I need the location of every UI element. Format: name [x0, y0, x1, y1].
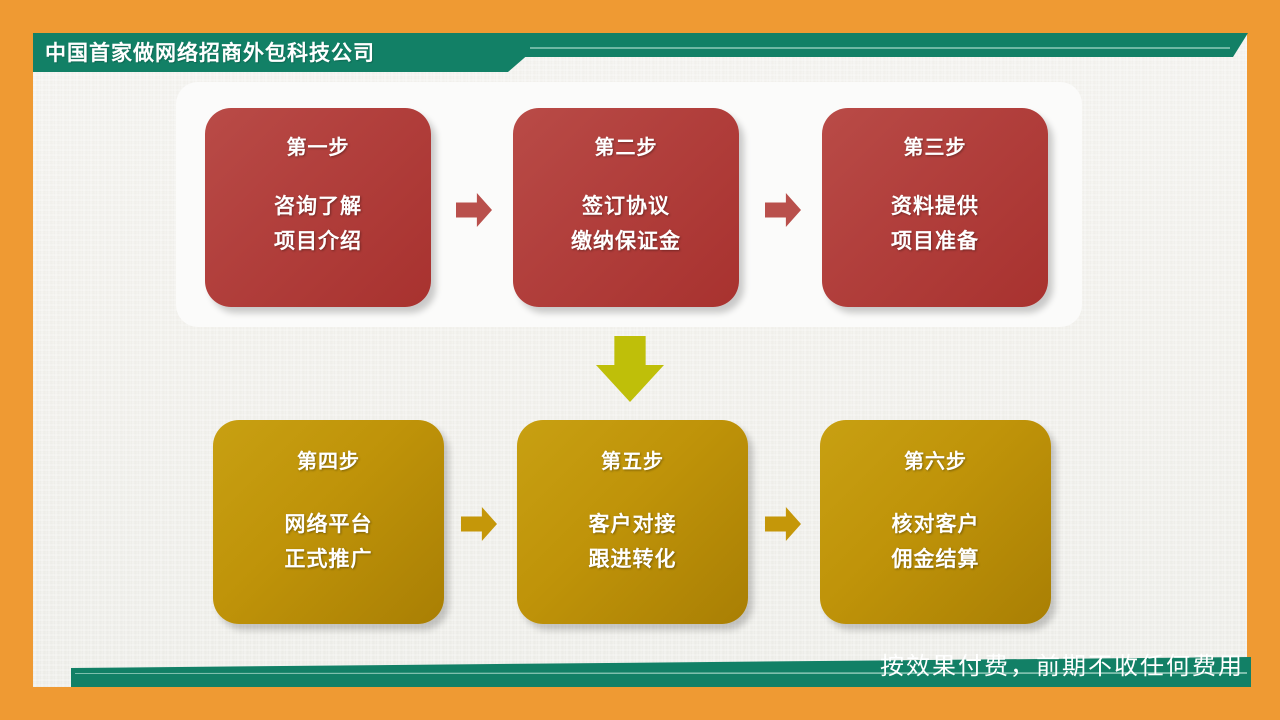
page-title: 中国首家做网络招商外包科技公司	[45, 37, 375, 71]
step-card-5-line2: 跟进转化	[589, 549, 677, 570]
step-card-4-title: 第四步	[297, 452, 360, 472]
step-card-6[interactable]: 第六步 核对客户 佣金结算	[820, 420, 1051, 624]
step-card-3-body: 资料提供 项目准备	[891, 196, 979, 252]
step-card-1-line1: 咨询了解	[274, 196, 362, 217]
step-card-2-title: 第二步	[595, 138, 658, 158]
step-card-1-body: 咨询了解 项目介绍	[274, 196, 362, 252]
step-card-6-title: 第六步	[904, 452, 967, 472]
step-card-3-line1: 资料提供	[891, 196, 979, 217]
step-card-2-line1: 签订协议	[582, 196, 670, 217]
step-card-2-line2: 缴纳保证金	[571, 231, 681, 252]
step-card-2[interactable]: 第二步 签订协议 缴纳保证金	[513, 108, 739, 307]
step-card-4-line2: 正式推广	[285, 549, 373, 570]
step-card-1-title: 第一步	[287, 138, 350, 158]
step-card-4-body: 网络平台 正式推广	[285, 514, 373, 570]
footer-tagline: 按效果付费，前期不收任何费用	[880, 647, 1244, 687]
step-card-5-title: 第五步	[601, 452, 664, 472]
step-card-5[interactable]: 第五步 客户对接 跟进转化	[517, 420, 748, 624]
step-card-5-body: 客户对接 跟进转化	[589, 514, 677, 570]
step-card-1[interactable]: 第一步 咨询了解 项目介绍	[205, 108, 431, 307]
step-card-4-line1: 网络平台	[285, 514, 373, 535]
step-card-6-body: 核对客户 佣金结算	[892, 514, 980, 570]
step-card-6-line1: 核对客户	[892, 514, 980, 535]
step-card-3-title: 第三步	[904, 138, 967, 158]
step-card-4[interactable]: 第四步 网络平台 正式推广	[213, 420, 444, 624]
step-card-6-line2: 佣金结算	[892, 549, 980, 570]
step-card-5-line1: 客户对接	[589, 514, 677, 535]
step-card-3[interactable]: 第三步 资料提供 项目准备	[822, 108, 1048, 307]
step-card-2-body: 签订协议 缴纳保证金	[571, 196, 681, 252]
slide-root: 中国首家做网络招商外包科技公司 第一步 咨询了解 项目介绍 第二步 签订协议 缴…	[0, 0, 1280, 720]
step-card-1-line2: 项目介绍	[274, 231, 362, 252]
step-card-3-line2: 项目准备	[891, 231, 979, 252]
